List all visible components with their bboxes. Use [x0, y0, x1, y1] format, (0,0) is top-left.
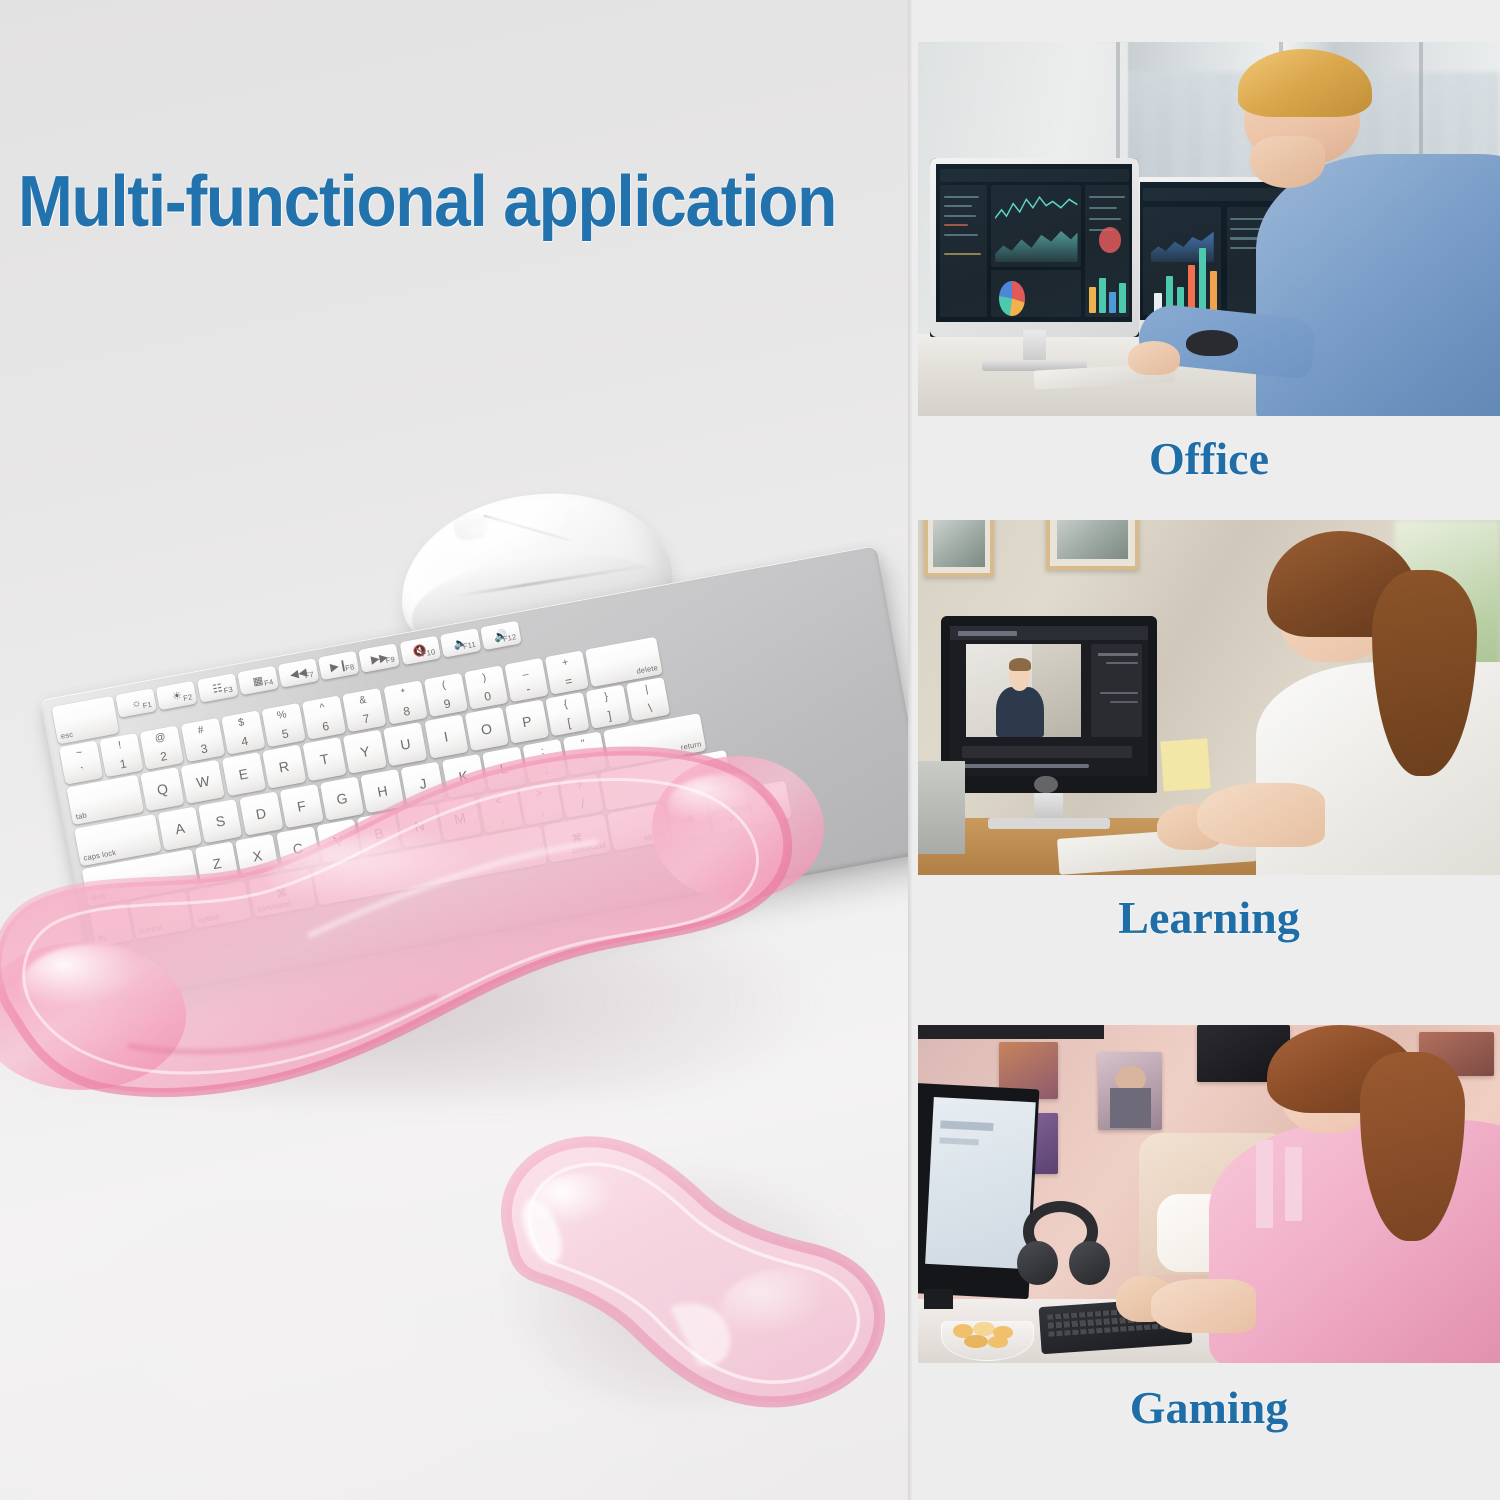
imac-screen — [950, 626, 1148, 775]
hoodie-drawstring — [1285, 1147, 1302, 1221]
sticky-note — [1161, 739, 1211, 792]
key-j: J — [401, 761, 445, 805]
key-i: I — [424, 715, 468, 759]
key-option-right: option — [607, 803, 670, 851]
use-case-label-learning: Learning — [918, 875, 1500, 961]
learning-photo — [918, 520, 1500, 875]
key-s: S — [198, 799, 242, 843]
key-0: )0 — [464, 666, 508, 710]
key-quote: "' — [563, 731, 607, 775]
key-n: N — [397, 804, 441, 848]
key-h: H — [360, 769, 404, 813]
panel-divider — [908, 0, 913, 1500]
key-bracket-right: }] — [586, 685, 630, 729]
pie-chart — [999, 281, 1024, 316]
product-photo-panel: Multi-functional application esc ☼F1 — [0, 0, 908, 1500]
key-9: (9 — [423, 673, 467, 717]
key-r: R — [262, 745, 306, 789]
office-photo — [918, 42, 1500, 416]
imac-foot — [988, 818, 1110, 829]
key-minus: _- — [504, 658, 548, 702]
book-stack — [918, 761, 965, 853]
key-m: M — [438, 796, 482, 840]
page-title: Multi-functional application — [18, 166, 842, 238]
key-u: U — [383, 722, 427, 766]
key-1: !1 — [99, 733, 143, 777]
wall-poster — [1098, 1052, 1162, 1130]
key-g: G — [320, 776, 364, 820]
key-o: O — [464, 707, 508, 751]
key-semicolon: :; — [522, 739, 566, 783]
use-case-learning: Learning — [918, 520, 1500, 961]
primary-monitor-stand — [1023, 330, 1046, 364]
office-person-hand — [1128, 341, 1180, 375]
key-arrow-down: ▼ — [711, 808, 752, 832]
wall-frame — [924, 520, 994, 577]
key-8: *8 — [383, 681, 427, 725]
key-x: X — [235, 834, 279, 878]
key-y: Y — [343, 730, 387, 774]
product-listing-image: Multi-functional application esc ☼F1 — [0, 0, 1500, 1500]
use-case-label-office: Office — [918, 416, 1500, 502]
gaming-monitor-screen — [926, 1096, 1037, 1269]
use-case-gaming: Gaming — [918, 1025, 1500, 1453]
office-person-neck — [1250, 136, 1326, 188]
key-slash: ?/ — [559, 774, 603, 818]
key-bracket-left: {[ — [545, 692, 589, 736]
key-fn: fn — [89, 903, 133, 947]
mouse-wrist-rest — [470, 1115, 900, 1445]
office-mouse — [1186, 330, 1238, 356]
key-command-right: ⌘command — [543, 814, 611, 863]
key-4: $4 — [221, 711, 265, 755]
key-w: W — [181, 760, 225, 804]
imac — [941, 616, 1156, 794]
key-k: K — [441, 754, 485, 798]
key-arrow-right: ▶ — [747, 781, 791, 825]
key-d: D — [239, 791, 283, 835]
gaming-photo — [918, 1025, 1500, 1363]
key-7: &7 — [342, 688, 386, 732]
apple-logo-icon — [1034, 776, 1057, 794]
key-q: Q — [140, 767, 184, 811]
key-t: T — [302, 737, 346, 781]
key-a: A — [158, 806, 202, 850]
shelf-edge — [918, 1025, 1104, 1039]
key-e: E — [221, 752, 265, 796]
use-case-office: Office — [918, 42, 1500, 502]
primary-monitor — [930, 158, 1140, 338]
line-chart — [995, 193, 1077, 225]
learning-person-forearm — [1197, 783, 1325, 847]
use-case-label-gaming: Gaming — [918, 1363, 1500, 1453]
key-c: C — [276, 826, 320, 870]
headphone-ear-cup — [1069, 1241, 1110, 1285]
key-backslash: |\ — [626, 677, 670, 721]
hoodie-drawstring — [1256, 1140, 1273, 1228]
key-period: >. — [519, 781, 563, 825]
key-3: #3 — [180, 718, 224, 762]
key-arrow-up: ▲ — [707, 788, 748, 812]
headphone-ear-cup — [1017, 1241, 1058, 1285]
key-v: V — [316, 819, 360, 863]
gaming-person-forearm — [1151, 1279, 1256, 1333]
key-2: @2 — [140, 726, 184, 770]
use-case-panel: Office — [908, 0, 1500, 1500]
key-f: F — [279, 784, 323, 828]
key-b: B — [357, 811, 401, 855]
key-equals: += — [545, 651, 589, 695]
key-z: Z — [195, 841, 239, 885]
key-command-left: ⌘command — [248, 869, 316, 918]
wall-frame — [1046, 520, 1139, 570]
apple-keyboard: esc ☼F1 ☀F2 ☷F3 ▦F4 ◀◀F7 ▶❙F8 ▶▶F9 🔇F10 … — [40, 541, 908, 1083]
key-tilde: ~` — [59, 741, 103, 785]
key-p: P — [505, 700, 549, 744]
key-comma: <, — [478, 789, 522, 833]
mouse-wrist-rest-shape — [470, 1115, 900, 1445]
arrow-key-cluster: ▲ ▼ — [707, 788, 751, 832]
key-arrow-left: ◀ — [666, 796, 710, 840]
key-control: control — [129, 892, 192, 940]
primary-monitor-screen — [936, 164, 1132, 322]
key-5: %5 — [261, 703, 305, 747]
video-player — [966, 644, 1081, 736]
key-l: L — [482, 746, 526, 790]
key-option-left: option — [189, 881, 252, 929]
gaming-monitor-stand — [924, 1289, 953, 1309]
key-6: ^6 — [302, 696, 346, 740]
